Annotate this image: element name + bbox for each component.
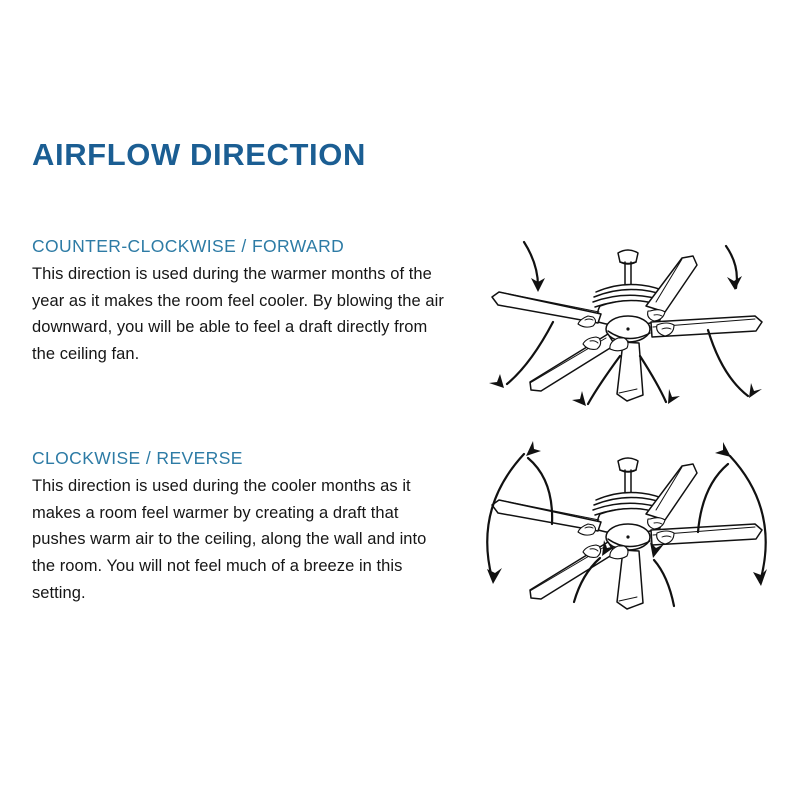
section-heading-clockwise: CLOCKWISE / REVERSE (32, 448, 452, 470)
ceiling-fan-updraft-diagram (468, 436, 788, 624)
section-clockwise: CLOCKWISE / REVERSE This direction is us… (32, 448, 452, 606)
section-counter-clockwise: COUNTER-CLOCKWISE / FORWARD This directi… (32, 236, 452, 368)
section-body-counter-clockwise: This direction is used during the warmer… (32, 261, 452, 368)
infographic-page: AIRFLOW DIRECTION COUNTER-CLOCKWISE / FO… (0, 0, 800, 800)
page-title: AIRFLOW DIRECTION (32, 138, 366, 172)
fan-body-lineart (492, 250, 762, 401)
section-heading-counter-clockwise: COUNTER-CLOCKWISE / FORWARD (32, 236, 452, 258)
section-body-clockwise: This direction is used during the cooler… (32, 473, 452, 607)
fan-body-lineart (492, 458, 762, 609)
ceiling-fan-downdraft-diagram (468, 234, 788, 422)
